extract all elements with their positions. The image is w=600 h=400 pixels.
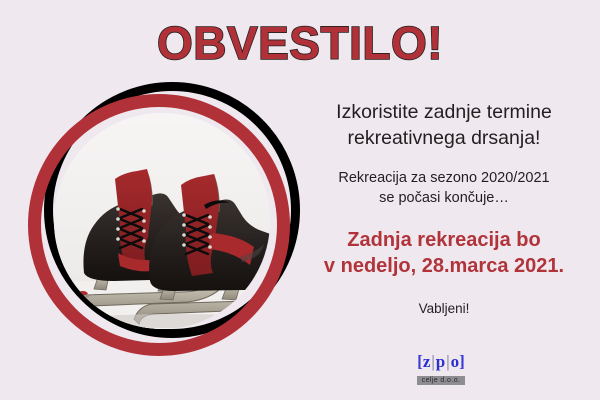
notice-poster: OBVESTILO! [0, 0, 600, 400]
highlight-line-1: Zadnja rekreacija bo [296, 227, 592, 253]
logo-bracket-close: ] [459, 352, 465, 371]
sub-text: Rekreacija za sezono 2020/2021 se počasi… [296, 169, 592, 208]
lead-line-2: rekreativnega drsanja! [296, 126, 592, 152]
logo-letter-p: p [436, 352, 445, 371]
invite-text: Vabljeni! [296, 301, 592, 316]
zpo-logo: [z|p|o] celje d.o.o. [400, 353, 482, 386]
sub-line-1: Rekreacija za sezono 2020/2021 [296, 169, 592, 189]
highlight-text: Zadnja rekreacija bo v nedeljo, 28.marca… [296, 227, 592, 279]
lead-text: Izkoristite zadnje termine rekreativnega… [296, 100, 592, 151]
logo-letter-o: o [451, 352, 460, 371]
logo-wordmark: [z|p|o] [400, 353, 482, 370]
sub-line-2: se počasi končuje… [296, 189, 592, 209]
text-column: Izkoristite zadnje termine rekreativnega… [296, 100, 592, 316]
logo-subtitle: celje d.o.o. [417, 376, 466, 385]
page-title: OBVESTILO! [0, 20, 600, 66]
skates-photo-frame [24, 80, 300, 356]
lead-line-1: Izkoristite zadnje termine [296, 100, 592, 126]
highlight-line-2: v nedeljo, 28.marca 2021. [296, 253, 592, 279]
ice-skates-photo [54, 113, 270, 329]
